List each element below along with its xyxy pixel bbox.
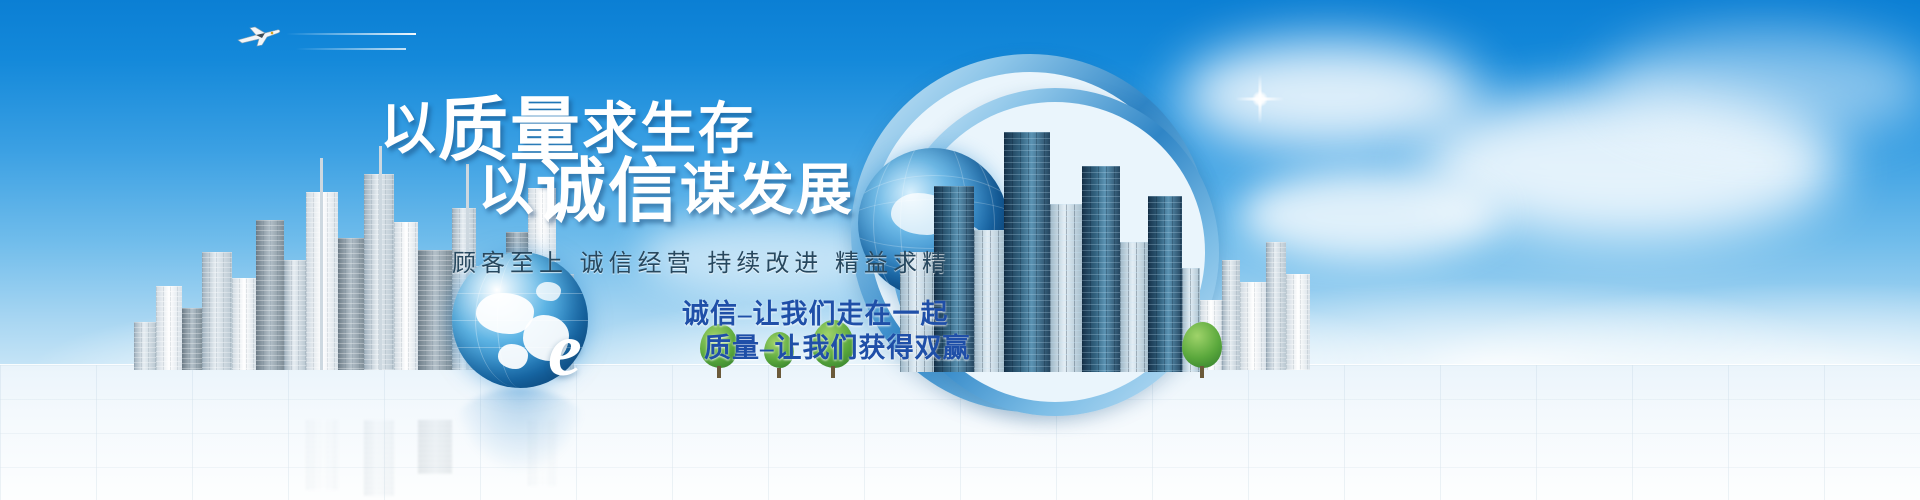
value-proposition-line: 顾客至上 诚信经营 持续改进 精益求精	[452, 243, 951, 278]
text-layer: 以质量求生存 以诚信谋发展 顾客至上 诚信经营 持续改进 精益求精 诚信–让我们…	[0, 0, 1920, 500]
marketing-banner: e	[0, 0, 1920, 500]
headline-1-prefix: 以	[380, 97, 438, 160]
slogan-line-2: 质量–让我们获得双赢	[704, 326, 971, 365]
headline-2-suffix: 谋发展	[680, 158, 854, 221]
headline-2-emphasis: 诚信	[536, 152, 680, 230]
headline-line-2: 以诚信谋发展	[478, 135, 854, 236]
headline-2-prefix: 以	[478, 158, 536, 221]
